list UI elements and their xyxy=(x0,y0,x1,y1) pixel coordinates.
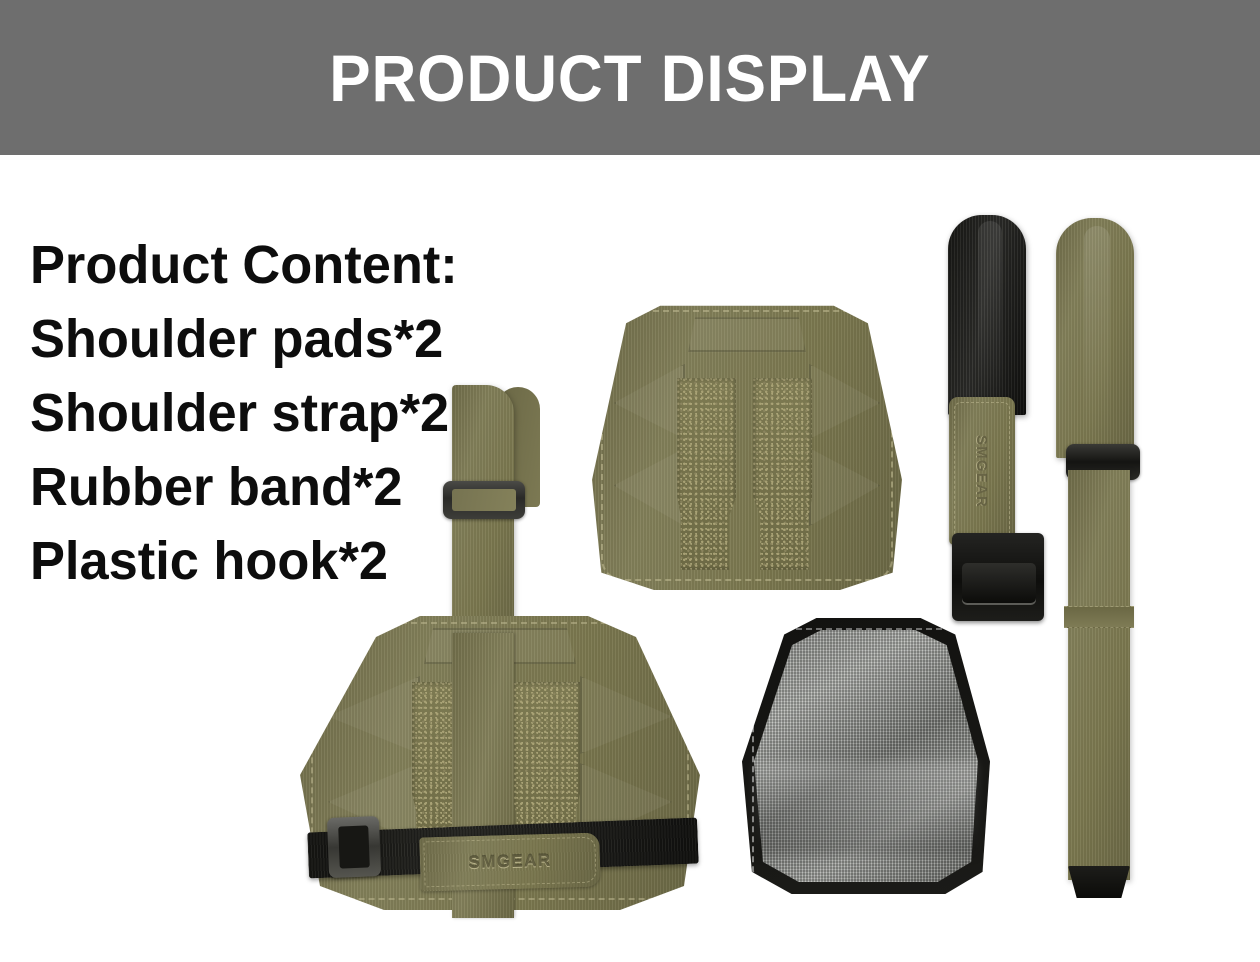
ballistic-plate-stitching xyxy=(752,628,980,884)
rubber-band-photo: SMGEAR xyxy=(940,215,1040,635)
shoulder-strap-tip xyxy=(1068,866,1130,898)
rubber-band-brand-tab: SMGEAR xyxy=(949,397,1015,545)
pad-velcro-strip-right xyxy=(753,378,812,569)
shoulder-strap-photo xyxy=(1050,218,1160,918)
rubber-band-brand-label: SMGEAR xyxy=(974,434,991,507)
assembly-elastic-slider-buckle xyxy=(327,816,381,878)
content-list-item-shoulder-pads: Shoulder pads*2 xyxy=(30,302,515,376)
pad-chevron-top xyxy=(688,317,806,352)
plastic-hook xyxy=(952,533,1044,621)
shoulder-strap-keeper xyxy=(1064,606,1134,628)
assembly-strap-upper xyxy=(452,385,514,655)
rubber-band-loop xyxy=(948,215,1026,415)
header-banner: PRODUCT DISPLAY xyxy=(0,0,1260,155)
ballistic-plate-photo xyxy=(742,618,990,894)
shoulder-strap-loop xyxy=(1056,218,1134,458)
page-title: PRODUCT DISPLAY xyxy=(329,45,930,111)
assembly-triglide-buckle xyxy=(443,481,525,519)
product-display-page: PRODUCT DISPLAY Product Content: Shoulde… xyxy=(0,0,1260,962)
shoulder-strap-tail xyxy=(1068,470,1130,880)
content-list-heading: Product Content: xyxy=(30,228,515,302)
shoulder-pad-assembly-photo: SMGEAR xyxy=(300,385,700,940)
assembly-brand-tab: SMGEAR xyxy=(419,832,600,891)
brand-tab-stitching xyxy=(423,837,596,888)
